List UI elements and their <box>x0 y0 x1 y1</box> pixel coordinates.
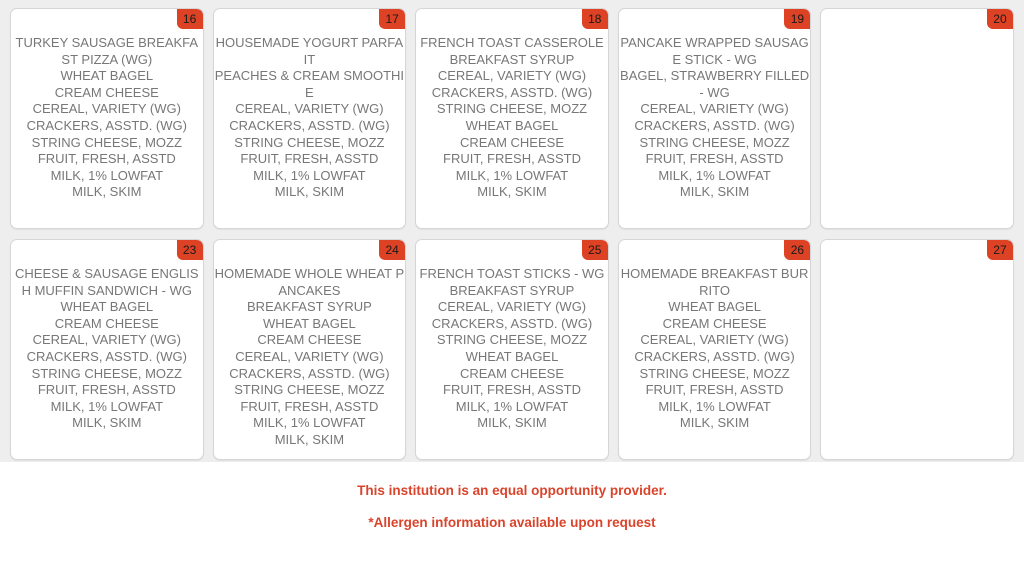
menu-item: FRUIT, FRESH, ASSTD <box>619 382 811 399</box>
menu-item: CRACKERS, ASSTD. (WG) <box>11 118 203 135</box>
menu-item: CRACKERS, ASSTD. (WG) <box>11 349 203 366</box>
menu-calendar-panel: 16TURKEY SAUSAGE BREAKFAST PIZZA (WG)WHE… <box>0 0 1024 462</box>
day-cell-26[interactable]: 26HOMEMADE BREAKFAST BURRITOWHEAT BAGELC… <box>618 239 812 460</box>
menu-item: FRUIT, FRESH, ASSTD <box>619 151 811 168</box>
menu-item: FRUIT, FRESH, ASSTD <box>11 151 203 168</box>
menu-item: WHEAT BAGEL <box>619 299 811 316</box>
menu-item: CREAM CHEESE <box>214 332 406 349</box>
day-cell-24[interactable]: 24HOMEMADE WHOLE WHEAT PANCAKESBREAKFAST… <box>213 239 407 460</box>
day-number-badge: 17 <box>379 9 405 29</box>
day-number-badge: 20 <box>987 9 1013 29</box>
menu-item: FRUIT, FRESH, ASSTD <box>214 399 406 416</box>
day-number-badge: 27 <box>987 240 1013 260</box>
menu-item: BAGEL, STRAWBERRY FILLED - WG <box>619 68 811 101</box>
equal-opportunity-notice: This institution is an equal opportunity… <box>0 483 1024 498</box>
menu-item: CEREAL, VARIETY (WG) <box>619 332 811 349</box>
menu-item: FRUIT, FRESH, ASSTD <box>214 151 406 168</box>
day-cell-20[interactable]: 20 <box>820 8 1014 229</box>
menu-item: MILK, SKIM <box>619 184 811 201</box>
day-cell-19[interactable]: 19PANCAKE WRAPPED SAUSAGE STICK - WGBAGE… <box>618 8 812 229</box>
menu-item: CRACKERS, ASSTD. (WG) <box>214 118 406 135</box>
day-number-badge: 19 <box>784 9 810 29</box>
menu-item: MILK, SKIM <box>214 432 406 449</box>
menu-item: FRUIT, FRESH, ASSTD <box>11 382 203 399</box>
menu-item: MILK, 1% LOWFAT <box>619 168 811 185</box>
menu-item-list: HOMEMADE WHOLE WHEAT PANCAKESBREAKFAST S… <box>214 266 406 449</box>
day-cell-18[interactable]: 18FRENCH TOAST CASSEROLEBREAKFAST SYRUPC… <box>415 8 609 229</box>
day-number-badge: 18 <box>582 9 608 29</box>
menu-item: PEACHES & CREAM SMOOTHIE <box>214 68 406 101</box>
menu-item: CEREAL, VARIETY (WG) <box>416 299 608 316</box>
menu-item: WHEAT BAGEL <box>11 299 203 316</box>
menu-item: HOMEMADE WHOLE WHEAT PANCAKES <box>214 266 406 299</box>
menu-item: WHEAT BAGEL <box>416 349 608 366</box>
menu-item: STRING CHEESE, MOZZ <box>619 366 811 383</box>
menu-item: CREAM CHEESE <box>619 316 811 333</box>
menu-item: STRING CHEESE, MOZZ <box>214 382 406 399</box>
day-cell-23[interactable]: 23CHEESE & SAUSAGE ENGLISH MUFFIN SANDWI… <box>10 239 204 460</box>
day-cell-16[interactable]: 16TURKEY SAUSAGE BREAKFAST PIZZA (WG)WHE… <box>10 8 204 229</box>
day-cell-25[interactable]: 25FRENCH TOAST STICKS - WGBREAKFAST SYRU… <box>415 239 609 460</box>
menu-item-list: CHEESE & SAUSAGE ENGLISH MUFFIN SANDWICH… <box>11 266 203 432</box>
day-number-badge: 26 <box>784 240 810 260</box>
day-number-badge: 24 <box>379 240 405 260</box>
day-cell-27[interactable]: 27 <box>820 239 1014 460</box>
menu-item: MILK, 1% LOWFAT <box>11 168 203 185</box>
menu-item: HOUSEMADE YOGURT PARFAIT <box>214 35 406 68</box>
menu-item: CRACKERS, ASSTD. (WG) <box>214 366 406 383</box>
menu-item: MILK, 1% LOWFAT <box>11 399 203 416</box>
menu-item: MILK, SKIM <box>416 415 608 432</box>
menu-item: CHEESE & SAUSAGE ENGLISH MUFFIN SANDWICH… <box>11 266 203 299</box>
menu-item: MILK, SKIM <box>11 415 203 432</box>
menu-item: CEREAL, VARIETY (WG) <box>11 332 203 349</box>
menu-item: TURKEY SAUSAGE BREAKFAST PIZZA (WG) <box>11 35 203 68</box>
menu-item: MILK, 1% LOWFAT <box>214 415 406 432</box>
menu-item: MILK, SKIM <box>214 184 406 201</box>
menu-item: MILK, SKIM <box>619 415 811 432</box>
menu-item: CREAM CHEESE <box>416 135 608 152</box>
menu-item: BREAKFAST SYRUP <box>416 52 608 69</box>
menu-item: STRING CHEESE, MOZZ <box>416 101 608 118</box>
menu-item: MILK, 1% LOWFAT <box>214 168 406 185</box>
day-cell-17[interactable]: 17HOUSEMADE YOGURT PARFAITPEACHES & CREA… <box>213 8 407 229</box>
menu-item: WHEAT BAGEL <box>214 316 406 333</box>
menu-item: STRING CHEESE, MOZZ <box>416 332 608 349</box>
menu-item: CEREAL, VARIETY (WG) <box>214 101 406 118</box>
day-number-badge: 25 <box>582 240 608 260</box>
menu-item-list: PANCAKE WRAPPED SAUSAGE STICK - WGBAGEL,… <box>619 35 811 201</box>
menu-item: FRENCH TOAST CASSEROLE <box>416 35 608 52</box>
menu-item: MILK, 1% LOWFAT <box>619 399 811 416</box>
day-number-badge: 16 <box>177 9 203 29</box>
menu-item: FRUIT, FRESH, ASSTD <box>416 151 608 168</box>
menu-item: CREAM CHEESE <box>11 316 203 333</box>
menu-item: WHEAT BAGEL <box>11 68 203 85</box>
footer-notes: This institution is an equal opportunity… <box>0 462 1024 530</box>
menu-item: CRACKERS, ASSTD. (WG) <box>416 316 608 333</box>
menu-item: MILK, 1% LOWFAT <box>416 168 608 185</box>
menu-item: FRUIT, FRESH, ASSTD <box>416 382 608 399</box>
menu-item: HOMEMADE BREAKFAST BURRITO <box>619 266 811 299</box>
menu-item: MILK, 1% LOWFAT <box>416 399 608 416</box>
menu-item: STRING CHEESE, MOZZ <box>11 135 203 152</box>
menu-item: CREAM CHEESE <box>416 366 608 383</box>
menu-item: BREAKFAST SYRUP <box>214 299 406 316</box>
menu-item: CEREAL, VARIETY (WG) <box>416 68 608 85</box>
menu-item: CREAM CHEESE <box>11 85 203 102</box>
menu-item-list: FRENCH TOAST CASSEROLEBREAKFAST SYRUPCER… <box>416 35 608 201</box>
menu-item: STRING CHEESE, MOZZ <box>619 135 811 152</box>
menu-item: MILK, SKIM <box>11 184 203 201</box>
menu-item: CEREAL, VARIETY (WG) <box>619 101 811 118</box>
menu-item: MILK, SKIM <box>416 184 608 201</box>
menu-item: PANCAKE WRAPPED SAUSAGE STICK - WG <box>619 35 811 68</box>
menu-item: STRING CHEESE, MOZZ <box>11 366 203 383</box>
allergen-notice: *Allergen information available upon req… <box>0 515 1024 530</box>
menu-item: BREAKFAST SYRUP <box>416 283 608 300</box>
menu-item-list: HOMEMADE BREAKFAST BURRITOWHEAT BAGELCRE… <box>619 266 811 432</box>
week-row: 16TURKEY SAUSAGE BREAKFAST PIZZA (WG)WHE… <box>10 8 1014 229</box>
menu-item: CRACKERS, ASSTD. (WG) <box>619 118 811 135</box>
menu-item-list: HOUSEMADE YOGURT PARFAITPEACHES & CREAM … <box>214 35 406 201</box>
menu-item: CEREAL, VARIETY (WG) <box>11 101 203 118</box>
week-grid: 16TURKEY SAUSAGE BREAKFAST PIZZA (WG)WHE… <box>10 8 1014 460</box>
menu-item: WHEAT BAGEL <box>416 118 608 135</box>
menu-item-list: TURKEY SAUSAGE BREAKFAST PIZZA (WG)WHEAT… <box>11 35 203 201</box>
menu-item: CRACKERS, ASSTD. (WG) <box>416 85 608 102</box>
menu-item: CRACKERS, ASSTD. (WG) <box>619 349 811 366</box>
menu-item-list: FRENCH TOAST STICKS - WGBREAKFAST SYRUPC… <box>416 266 608 432</box>
day-number-badge: 23 <box>177 240 203 260</box>
menu-item: CEREAL, VARIETY (WG) <box>214 349 406 366</box>
menu-item: STRING CHEESE, MOZZ <box>214 135 406 152</box>
menu-item: FRENCH TOAST STICKS - WG <box>416 266 608 283</box>
week-row: 23CHEESE & SAUSAGE ENGLISH MUFFIN SANDWI… <box>10 239 1014 460</box>
